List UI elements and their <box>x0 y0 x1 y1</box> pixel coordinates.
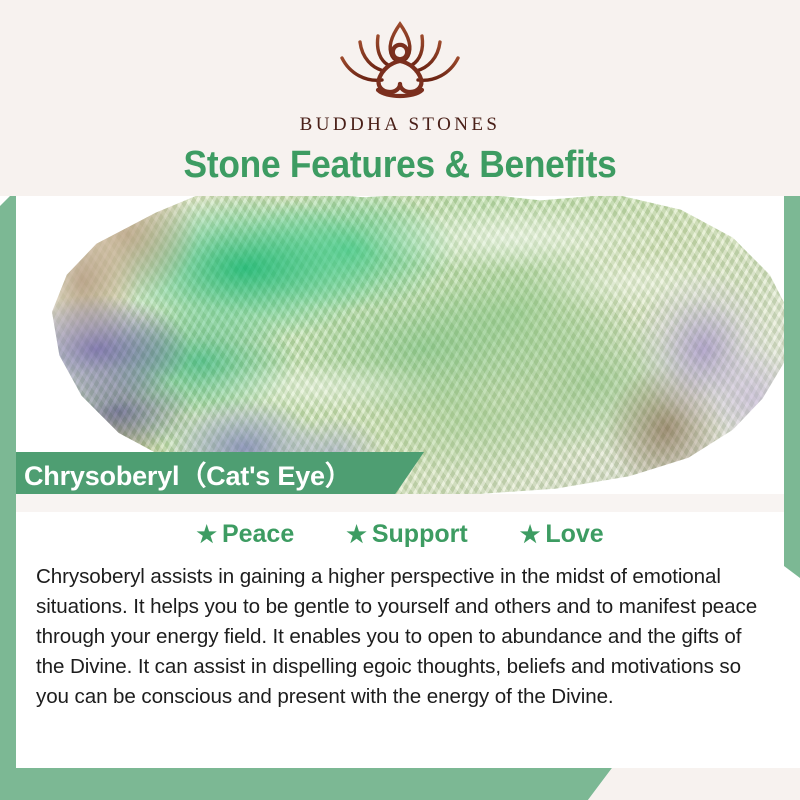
page-title: Stone Features & Benefits <box>28 144 772 187</box>
brand-name: BUDDHA STONES <box>0 114 800 136</box>
stone-photo <box>0 196 800 496</box>
star-icon: ★ <box>346 523 367 546</box>
keyword-label: Love <box>545 520 603 549</box>
stone-description: Chrysoberyl assists in gaining a higher … <box>36 562 770 712</box>
brand-logo: BUDDHA STONES <box>0 16 800 136</box>
keyword-item-support: ★ Support <box>346 520 467 549</box>
keyword-label: Peace <box>222 520 294 549</box>
keyword-item-love: ★ Love <box>520 520 604 549</box>
stone-image <box>52 196 792 496</box>
frame-bottom-cream <box>588 768 800 800</box>
star-icon: ★ <box>520 523 541 546</box>
stone-benefits-card: BUDDHA STONES Stone Features & Benefits … <box>0 0 800 800</box>
keyword-row: ★ Peace ★ Support ★ Love <box>0 520 800 549</box>
frame-accent-bottom <box>0 768 612 800</box>
keyword-label: Support <box>372 520 468 549</box>
lotus-meditation-figure-icon <box>320 16 480 108</box>
stone-name-banner: Chrysoberyl（Cat's Eye） <box>14 452 424 494</box>
keyword-item-peace: ★ Peace <box>196 520 294 549</box>
frame-accent-left <box>0 196 16 784</box>
star-icon: ★ <box>196 523 217 546</box>
content-panel: ★ Peace ★ Support ★ Love Chrysoberyl ass… <box>0 494 800 780</box>
frame-accent-right <box>784 196 800 578</box>
panel-top-tint <box>0 494 800 512</box>
stone-name-label: Chrysoberyl（Cat's Eye） <box>14 454 352 493</box>
